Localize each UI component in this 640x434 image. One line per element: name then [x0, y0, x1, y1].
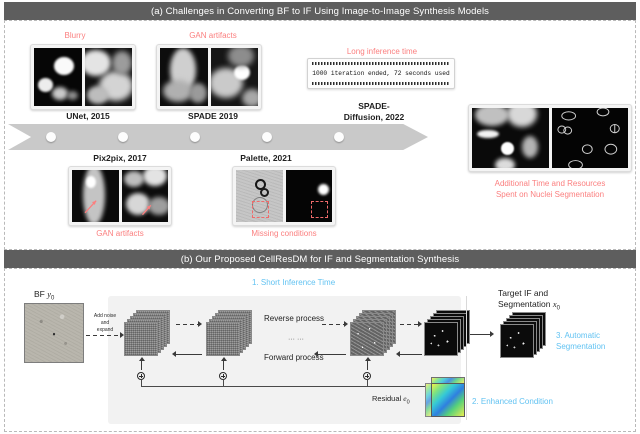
arrow-bf-to-stack: [86, 335, 120, 336]
arrow-forward-3: [400, 354, 422, 355]
image-card-palette: [232, 166, 336, 226]
stack-sheet: [424, 322, 458, 356]
timeline-arrow-bar: [8, 124, 428, 150]
callout-short-inference-time: 1. Short Inference Time: [252, 277, 335, 288]
label-reverse-process: Reverse process: [264, 313, 324, 324]
oplus-icon-3: [363, 372, 371, 380]
arrow-head: [396, 351, 400, 357]
figure-root: (a) Challenges in Converting BF to IF Us…: [0, 0, 640, 434]
latent-stack-1: [124, 310, 170, 356]
cell-blob: [522, 136, 538, 158]
cond-connector-1: [141, 360, 142, 370]
label-add-noise-line3: expand: [86, 327, 124, 334]
label-target-line1: Target IF and: [498, 288, 548, 299]
timeline-dot-palette: [262, 132, 272, 142]
label-ellipsis: ··· ···: [288, 334, 304, 345]
nucleus-ring: [260, 188, 269, 197]
terminal-rule-top: [312, 62, 450, 65]
residual-prefix: Residual: [372, 394, 403, 403]
timeline-dot-unet: [46, 132, 56, 142]
cond-connector-2: [223, 360, 224, 370]
nuclei-mask-image: [552, 108, 629, 168]
cell-blob: [112, 51, 132, 75]
timeline-label-spade: SPADE 2019: [168, 111, 258, 122]
latent-stack-3: [350, 310, 396, 356]
stack-sheet: [124, 322, 158, 356]
panel-b-header: (b) Our Proposed CellResDM for IF and Se…: [4, 250, 636, 268]
timeline-label-spade-diffusion-line2: Diffusion, 2022: [326, 112, 422, 123]
nuclei-if-image: [472, 108, 549, 168]
bf-prefix: BF: [34, 289, 47, 299]
microscopy-texture: [85, 48, 133, 106]
image-card-nuclei-segmentation: [468, 104, 632, 172]
timeline-label-palette: Palette, 2021: [224, 153, 308, 164]
residual-bus-line: [141, 386, 425, 387]
cell-blob: [495, 158, 515, 168]
arrow-head: [344, 321, 348, 327]
cell-blob: [477, 130, 499, 138]
cell-blob: [54, 57, 74, 75]
image-card-unet: [30, 44, 136, 110]
callout-automatic-segmentation-line1: 3. Automatic: [556, 330, 600, 341]
label-gan-artifacts-top: GAN artifacts: [168, 30, 258, 41]
label-long-inference-time: Long inference time: [320, 46, 444, 57]
missing-condition-box: [311, 201, 328, 218]
arrow-head: [314, 351, 318, 357]
arrow-head: [490, 331, 494, 337]
pipeline-divider: [466, 296, 467, 420]
arrow-to-target: [470, 334, 490, 335]
cell-blob: [507, 108, 537, 127]
palette-image-right: [286, 170, 333, 222]
nuclei-outlines: [552, 108, 628, 168]
bf-subscript: 0: [51, 296, 54, 302]
residual-subscript: 0: [407, 400, 410, 406]
timeline-dot-pix2pix: [118, 132, 128, 142]
spade-image-left: [160, 48, 208, 106]
label-add-noise-line1: Add noise: [86, 313, 124, 320]
residual-condition-cube: [425, 377, 465, 417]
panel-a-header: (a) Challenges in Converting BF to IF Us…: [4, 2, 636, 20]
cond-connector-3: [367, 360, 368, 370]
cube-top-face: [431, 377, 465, 384]
oplus-icon-2: [219, 372, 227, 380]
stack-sheet: [206, 322, 240, 356]
arrow-head: [365, 357, 371, 361]
label-blurry: Blurry: [40, 30, 110, 41]
palette-image-left: [236, 170, 283, 222]
label-extra-cost-line2: Spent on Nuclei Segmentation: [462, 189, 638, 200]
cell-blob: [242, 89, 258, 106]
arrow-reverse-1: [176, 324, 198, 325]
cell-blob: [87, 86, 109, 104]
timeline-dot-spade-diffusion: [334, 132, 344, 142]
label-extra-cost-line1: Additional Time and Resources: [462, 178, 638, 189]
residual-bus-tick: [223, 380, 224, 386]
label-missing-conditions: Missing conditions: [234, 228, 334, 239]
image-card-spade: [156, 44, 262, 110]
cell-blob: [501, 142, 514, 155]
target-prefix: Segmentation: [498, 299, 553, 309]
cell-blob: [234, 65, 250, 80]
cell-blob: [52, 87, 68, 100]
callout-automatic-segmentation-line2: Segmentation: [556, 341, 605, 352]
terminal-text: 1000 iteration ended, 72 seconds used: [312, 70, 450, 77]
residual-bus-tick: [367, 380, 368, 386]
pix2pix-image-left: [72, 170, 119, 222]
arrow-head: [221, 357, 227, 361]
spade-image-right: [211, 48, 259, 106]
latent-stack-2: [206, 310, 252, 356]
timeline-label-unet: UNet, 2015: [48, 111, 128, 122]
cell-blob: [163, 80, 193, 102]
bf-input-image: [24, 303, 84, 363]
arrow-reverse-2: [322, 324, 344, 325]
cube-side-face: [425, 383, 432, 417]
timeline-dot-spade: [190, 132, 200, 142]
arrow-forward-1: [176, 354, 202, 355]
cell-blob: [318, 184, 329, 195]
red-arrow-annotation: [122, 170, 168, 220]
label-add-noise-line2: and: [86, 320, 124, 327]
label-residual: Residual e0: [372, 393, 410, 409]
timeline-label-spade-diffusion-line1: SPADE-: [326, 101, 422, 112]
terminal-rule-bottom: [312, 82, 450, 85]
residual-bus-tick: [141, 380, 142, 386]
timeline: [8, 124, 428, 150]
cell-blob: [189, 83, 207, 103]
image-card-pix2pix: [68, 166, 172, 226]
microscopy-texture: [160, 48, 208, 106]
arrow-forward-2: [318, 354, 346, 355]
arrow-head: [172, 351, 176, 357]
arrow-head: [139, 357, 145, 361]
timeline-label-pix2pix: Pix2pix, 2017: [78, 153, 162, 164]
microscopy-texture: [211, 48, 259, 106]
cube-front-face: [431, 383, 465, 417]
target-output-stack: [500, 312, 546, 358]
target-subscript: 0: [557, 306, 560, 312]
red-arrow-annotation: [72, 170, 118, 220]
microscopy-texture: [472, 108, 549, 168]
arrow-head: [418, 321, 422, 327]
arrow-reverse-3: [400, 324, 418, 325]
missing-condition-box: [252, 201, 269, 218]
terminal-window: 1000 iteration ended, 72 seconds used: [307, 58, 455, 89]
stack-sheet: [500, 324, 534, 358]
stack-sheet: [350, 322, 384, 356]
unet-image-left: [34, 48, 82, 106]
latent-stack-output: [424, 310, 470, 356]
cell-blob: [228, 48, 254, 67]
label-gan-artifacts-bottom: GAN artifacts: [70, 228, 170, 239]
unet-image-right: [85, 48, 133, 106]
oplus-icon-1: [137, 372, 145, 380]
callout-enhanced-condition: 2. Enhanced Condition: [472, 396, 553, 407]
pix2pix-image-right: [122, 170, 169, 222]
cell-blob: [475, 108, 509, 126]
microscopy-texture: [34, 48, 82, 106]
cell-blob: [67, 91, 78, 100]
cell-blob: [38, 78, 53, 92]
arrow-head: [198, 321, 202, 327]
